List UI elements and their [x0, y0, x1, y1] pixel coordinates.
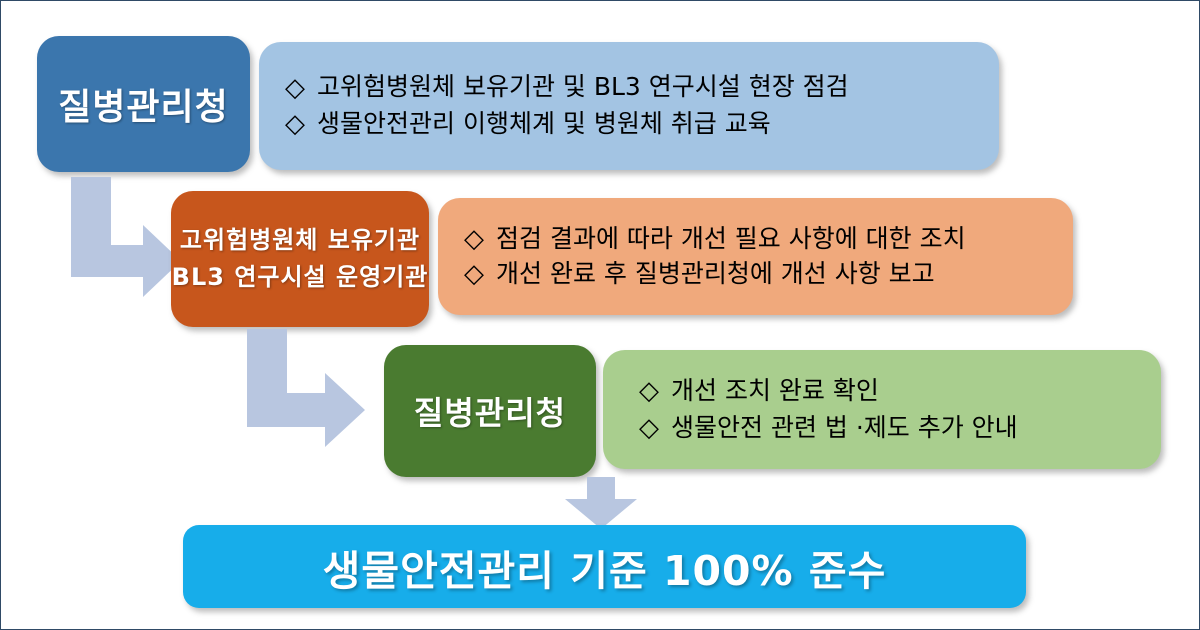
- step-2-detail-text-1: 점검 결과에 따라 개선 필요 사항에 대한 조치: [496, 225, 966, 254]
- step-3-detail-line-1: ◇ 개선 조치 완료 확인: [639, 377, 1161, 406]
- down-arrow-icon: [561, 477, 641, 529]
- diamond-bullet-icon: ◇: [285, 111, 305, 137]
- diamond-bullet-icon: ◇: [464, 226, 484, 252]
- step-2-detail-line-1: ◇ 점검 결과에 따라 개선 필요 사항에 대한 조치: [464, 225, 1073, 254]
- step-2-actor-label-line1: 고위험병원체 보유기관: [180, 222, 420, 259]
- elbow-arrow-icon: [239, 329, 367, 447]
- step-3-detail-box: ◇ 개선 조치 완료 확인 ◇ 생물안전 관련 법 ·제도 추가 안내: [603, 350, 1161, 469]
- step-1-detail-box: ◇ 고위험병원체 보유기관 및 BL3 연구시설 현장 점검 ◇ 생물안전관리 …: [259, 42, 999, 170]
- diamond-bullet-icon: ◇: [285, 75, 305, 101]
- step-3-actor-box: 질병관리청: [384, 345, 596, 477]
- step-3-detail-text-2: 생물안전 관련 법 ·제도 추가 안내: [671, 414, 1018, 443]
- step-1-detail-line-2: ◇ 생물안전관리 이행체계 및 병원체 취급 교육: [285, 110, 999, 139]
- step-3-detail-line-2: ◇ 생물안전 관련 법 ·제도 추가 안내: [639, 414, 1161, 443]
- step-2-detail-text-2: 개선 완료 후 질병관리청에 개선 사항 보고: [496, 260, 935, 289]
- step-1-actor-box: 질병관리청: [37, 36, 250, 172]
- arrow-step3-to-goal: [561, 477, 641, 529]
- goal-banner-label: 생물안전관리 기준 100% 준수: [323, 537, 887, 597]
- step-1-actor-label: 질병관리청: [58, 78, 229, 130]
- step-2-actor-box: 고위험병원체 보유기관 BL3 연구시설 운영기관: [171, 191, 429, 327]
- step-3-detail-text-1: 개선 조치 완료 확인: [671, 377, 879, 406]
- step-1-detail-line-1: ◇ 고위험병원체 보유기관 및 BL3 연구시설 현장 점검: [285, 73, 999, 102]
- step-1-detail-text-1: 고위험병원체 보유기관 및 BL3 연구시설 현장 점검: [317, 73, 849, 102]
- step-2-detail-line-2: ◇ 개선 완료 후 질병관리청에 개선 사항 보고: [464, 260, 1073, 289]
- arrow-step1-to-step2: [63, 177, 183, 297]
- step-2-actor-label-line2: BL3 연구시설 운영기관: [172, 259, 429, 296]
- diamond-bullet-icon: ◇: [464, 261, 484, 287]
- goal-banner: 생물안전관리 기준 100% 준수: [183, 525, 1026, 608]
- diamond-bullet-icon: ◇: [639, 378, 659, 404]
- step-3-actor-label: 질병관리청: [414, 388, 566, 434]
- step-1-detail-text-2: 생물안전관리 이행체계 및 병원체 취급 교육: [317, 110, 771, 139]
- step-2-detail-box: ◇ 점검 결과에 따라 개선 필요 사항에 대한 조치 ◇ 개선 완료 후 질병…: [438, 198, 1073, 315]
- diagram-canvas: 질병관리청 ◇ 고위험병원체 보유기관 및 BL3 연구시설 현장 점검 ◇ 생…: [0, 0, 1200, 630]
- arrow-step2-to-step3: [239, 329, 367, 447]
- diamond-bullet-icon: ◇: [639, 415, 659, 441]
- elbow-arrow-icon: [63, 177, 183, 297]
